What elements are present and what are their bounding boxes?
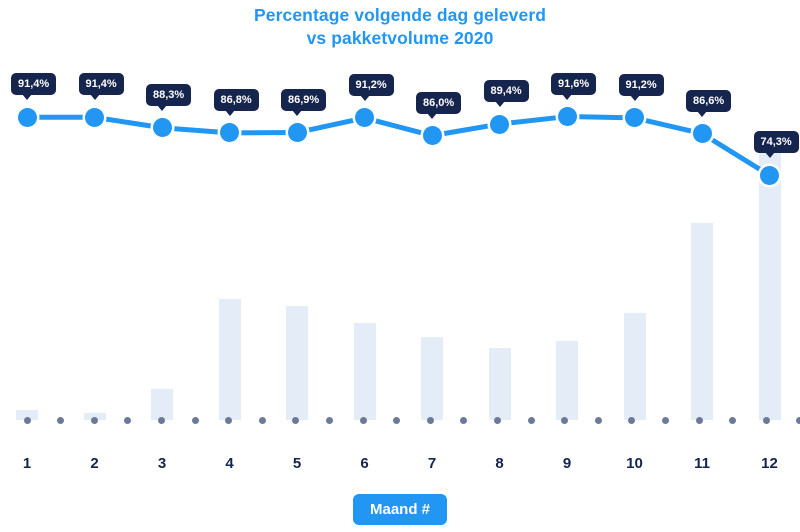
value-callout: 91,2% — [619, 74, 664, 96]
value-callout: 91,6% — [551, 73, 596, 95]
line-marker[interactable] — [423, 126, 442, 145]
value-callout: 86,0% — [416, 92, 461, 114]
x-tick-label: 5 — [277, 455, 317, 472]
line-marker[interactable] — [288, 123, 307, 142]
line-marker[interactable] — [693, 124, 712, 143]
line-series-path — [27, 117, 770, 176]
x-tick-label: 8 — [480, 455, 520, 472]
line-marker[interactable] — [760, 166, 779, 185]
x-axis-title: Maand # — [353, 494, 447, 525]
x-tick-label: 12 — [750, 455, 790, 472]
value-callout: 88,3% — [146, 84, 191, 106]
plot-area: 91,4%91,4%88,3%86,8%86,9%91,2%86,0%89,4%… — [0, 0, 800, 440]
x-tick-label: 1 — [7, 455, 47, 472]
line-marker[interactable] — [85, 108, 104, 127]
line-series-svg — [0, 0, 800, 440]
value-callout: 74,3% — [754, 131, 799, 153]
value-callout: 89,4% — [484, 80, 529, 102]
value-callout: 86,8% — [214, 89, 259, 111]
value-callout: 91,4% — [79, 73, 124, 95]
x-tick-label: 9 — [547, 455, 587, 472]
value-callout: 91,4% — [11, 73, 56, 95]
x-tick-label: 2 — [75, 455, 115, 472]
value-callout: 86,6% — [686, 90, 731, 112]
value-callout: 86,9% — [281, 89, 326, 111]
line-marker[interactable] — [558, 107, 577, 126]
x-tick-label: 6 — [345, 455, 385, 472]
x-tick-label: 7 — [412, 455, 452, 472]
x-tick-label: 4 — [210, 455, 250, 472]
line-marker[interactable] — [490, 115, 509, 134]
line-marker[interactable] — [153, 118, 172, 137]
x-tick-label: 11 — [682, 455, 722, 472]
line-marker[interactable] — [18, 108, 37, 127]
x-tick-label: 10 — [615, 455, 655, 472]
value-callout: 91,2% — [349, 74, 394, 96]
x-tick-label: 3 — [142, 455, 182, 472]
